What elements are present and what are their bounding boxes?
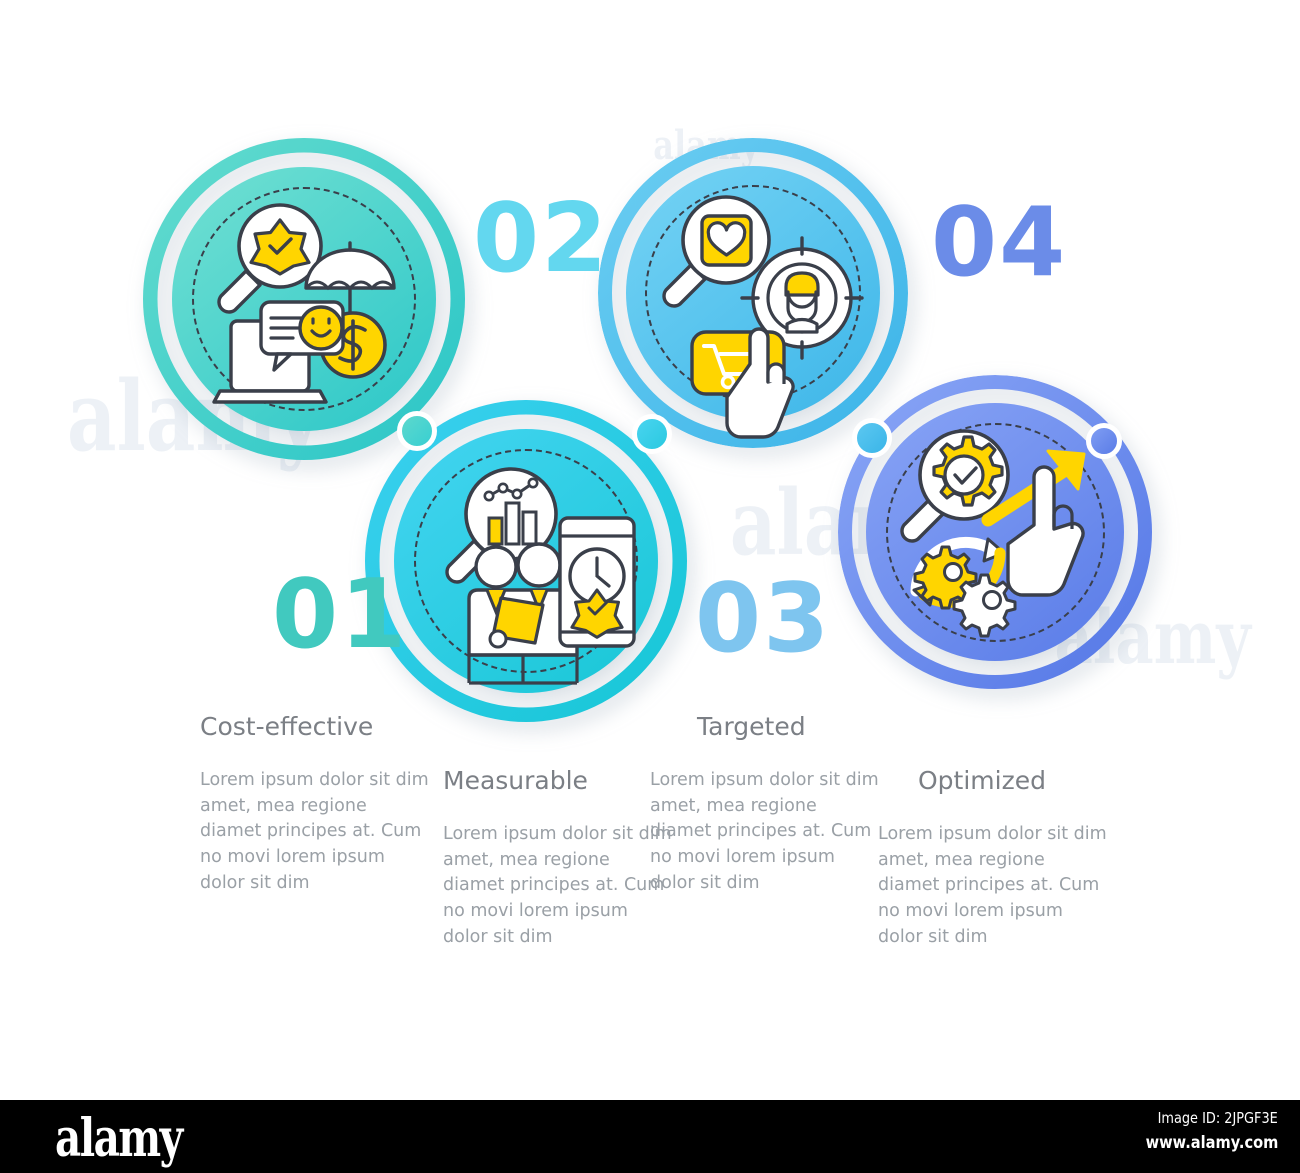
connector-dot-2 [632,414,672,454]
alamy-url[interactable]: www.alamy.com [1145,1133,1278,1153]
laptop-chat-smiley-icon [214,302,343,402]
watermark-bar: alamy Image ID: 2JPGF3E www.alamy.com [0,1100,1300,1173]
step-body-2: Lorem ipsum dolor sit dim amet, mea regi… [443,822,673,951]
step-title-3: Targeted [650,712,880,741]
connector-dot-1 [397,411,437,451]
connector-dot-3 [852,418,892,458]
magnifier-star-icon [219,205,321,312]
step-title-2: Measurable [443,766,673,795]
step-number-4: 04 [931,196,1067,291]
step-title-4: Optimized [878,766,1108,795]
step-text-2: Measurable Lorem ipsum dolor sit dim ame… [443,766,673,951]
smartphone-clock-star-icon [560,518,634,646]
gear-small-white [954,575,1015,636]
shopping-cart-click-icon [692,329,793,437]
gears-cycle-icon [914,539,1015,636]
alamy-logo: alamy [55,1108,182,1169]
step-number-2: 02 [473,192,609,287]
step-body-4: Lorem ipsum dolor sit dim amet, mea regi… [878,822,1108,951]
image-id-label: Image ID: 2JPGF3E [1158,1109,1278,1127]
connector-dot-4 [1086,423,1122,459]
step-text-3: Targeted Lorem ipsum dolor sit dim amet,… [650,712,880,897]
step-text-4: Optimized Lorem ipsum dolor sit dim amet… [878,766,1108,951]
step-text-1: Cost-effective Lorem ipsum dolor sit dim… [200,712,430,897]
step-number-1: 01 [272,568,408,663]
step-title-1: Cost-effective [200,712,430,741]
infographic-canvas: alamy alamy alamy alamy [0,0,1300,1100]
step-body-3: Lorem ipsum dolor sit dim amet, mea regi… [650,768,880,897]
step-body-1: Lorem ipsum dolor sit dim amet, mea regi… [200,768,432,897]
step-number-3: 03 [695,572,831,667]
